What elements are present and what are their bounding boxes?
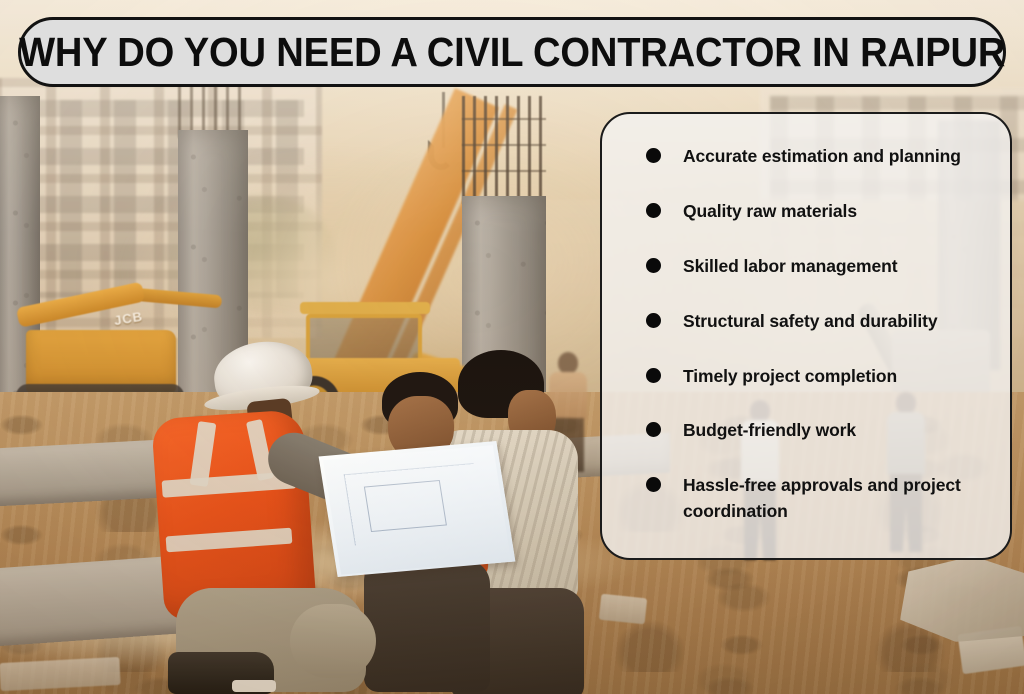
benefits-panel: Accurate estimation and planning Quality…	[600, 112, 1012, 560]
list-item: Quality raw materials	[646, 199, 990, 225]
list-item: Budget-friendly work	[646, 418, 990, 444]
bullet-icon	[646, 258, 661, 273]
list-item: Skilled labor management	[646, 254, 990, 280]
bullet-icon	[646, 422, 661, 437]
worker-knee	[290, 604, 376, 678]
list-item-label: Quality raw materials	[683, 199, 857, 225]
poster-canvas: JCB	[0, 0, 1024, 694]
bullet-icon	[646, 477, 661, 492]
concrete-slab	[599, 594, 647, 625]
list-item-label: Hassle-free approvals and project coordi…	[683, 473, 973, 525]
backhoe-roof	[300, 302, 430, 314]
list-item: Hassle-free approvals and project coordi…	[646, 473, 990, 525]
list-item-label: Accurate estimation and planning	[683, 144, 961, 170]
bullet-icon	[646, 148, 661, 163]
list-item-label: Budget-friendly work	[683, 418, 856, 444]
list-item-label: Timely project completion	[683, 364, 897, 390]
page-title: WHY DO YOU NEED A CIVIL CONTRACTOR IN RA…	[19, 32, 1005, 73]
worker-pants	[364, 560, 490, 692]
jcb-logo: JCB	[113, 310, 144, 327]
bullet-icon	[646, 313, 661, 328]
bullet-icon	[646, 368, 661, 383]
worker-boot-sole	[232, 680, 276, 692]
benefits-list: Accurate estimation and planning Quality…	[646, 144, 990, 525]
list-item: Timely project completion	[646, 364, 990, 390]
list-item: Structural safety and durability	[646, 309, 990, 335]
blueprint-sheet	[319, 441, 516, 577]
rebar-ties	[462, 118, 546, 182]
bullet-icon	[646, 203, 661, 218]
list-item: Accurate estimation and planning	[646, 144, 990, 170]
title-banner: WHY DO YOU NEED A CIVIL CONTRACTOR IN RA…	[18, 17, 1006, 87]
list-item-label: Skilled labor management	[683, 254, 897, 280]
list-item-label: Structural safety and durability	[683, 309, 938, 335]
